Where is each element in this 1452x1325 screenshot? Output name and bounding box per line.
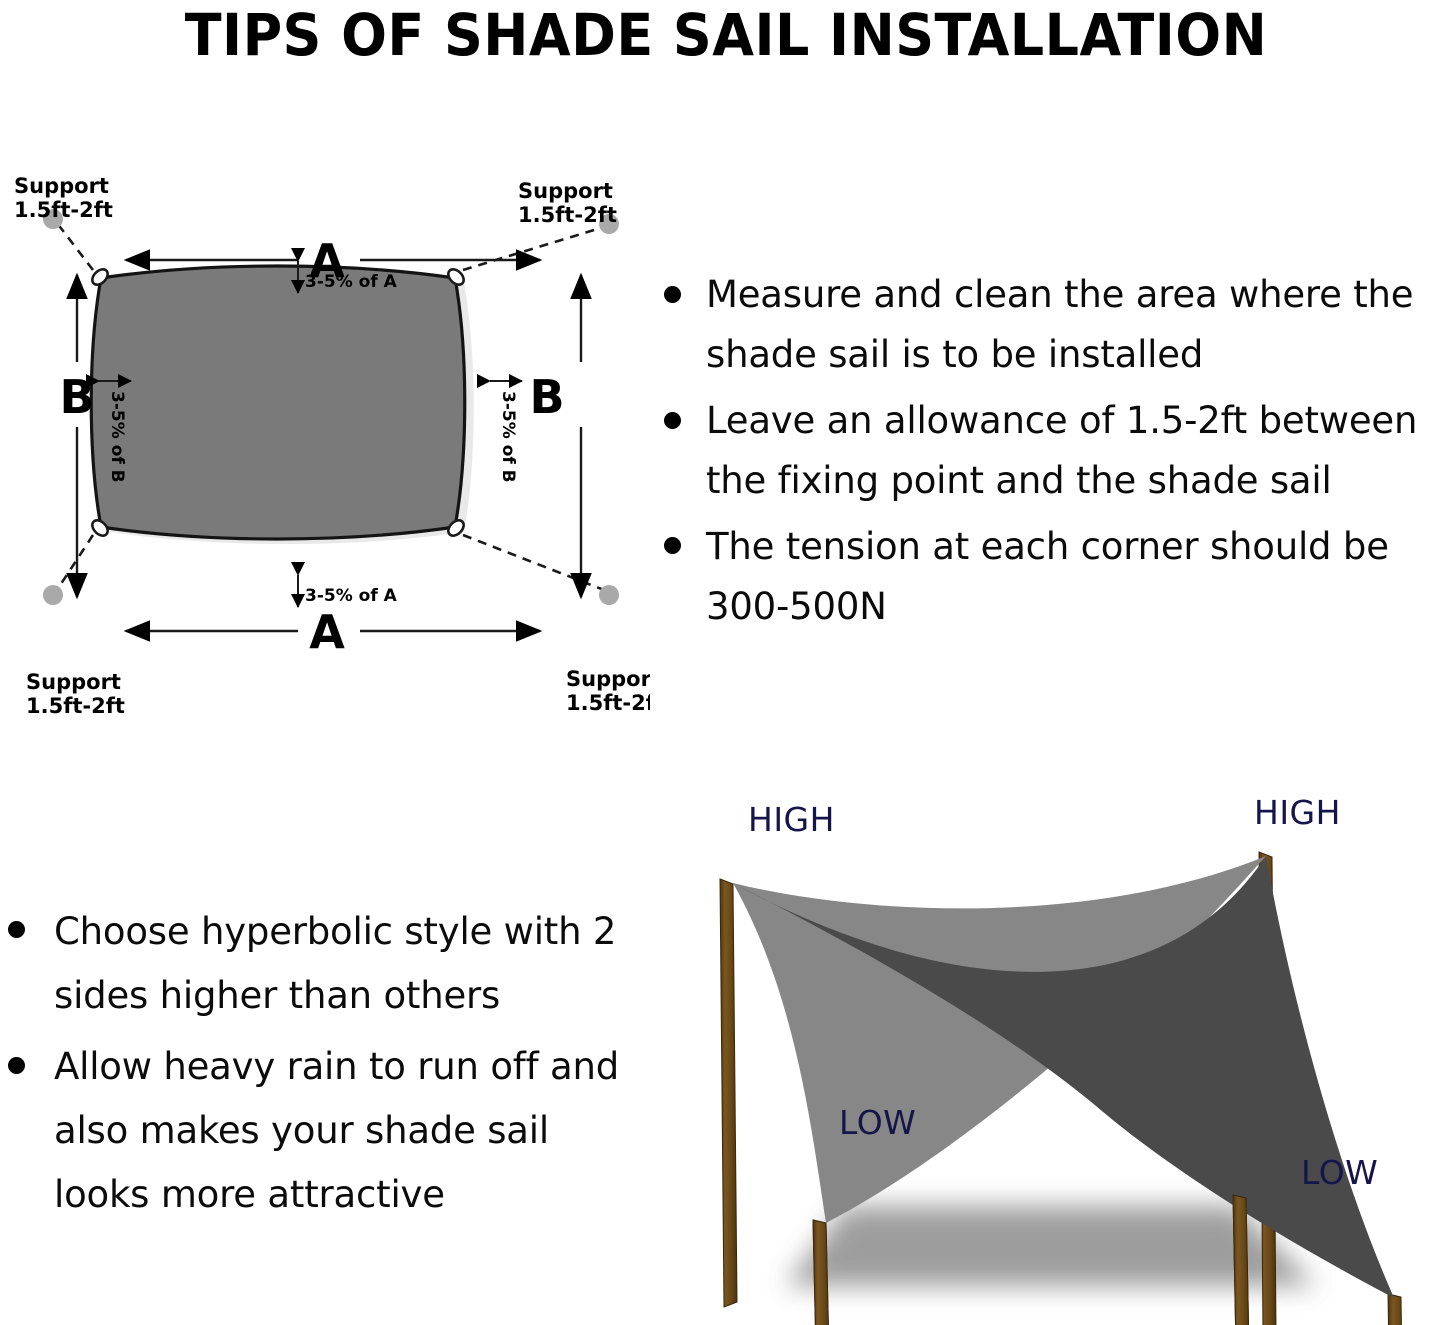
hyperbolic-sail-diagram: HIGH HIGH LOW LOW	[676, 786, 1452, 1325]
installation-tips-list: Measure and clean the area where the sha…	[650, 265, 1452, 643]
post-low-mid-front	[1233, 1195, 1250, 1325]
support-label-top-left-line2: 1.5ft-2ft	[14, 198, 113, 222]
dim-label-bottom-pctA: 3-5% of A	[305, 586, 398, 606]
list-item: Choose hyperbolic style with 2 sides hig…	[0, 900, 640, 1027]
list-item: Measure and clean the area where the sha…	[650, 265, 1452, 385]
support-label-top-right-line2: 1.5ft-2ft	[518, 203, 617, 227]
tether-bottom-right	[463, 535, 604, 590]
anchor-dot-bottom-left	[43, 585, 63, 605]
dim-label-left-pctB: 3-5% of B	[107, 391, 127, 483]
list-item-label: Allow heavy rain to run off and also mak…	[54, 1045, 619, 1215]
support-label-bottom-right-line2: 1.5ft-2ft	[566, 691, 650, 715]
rectangular-sail-diagram: Support 1.5ft-2ft Support 1.5ft-2ft Supp…	[0, 165, 650, 730]
list-item: Leave an allowance of 1.5-2ft between th…	[650, 391, 1452, 511]
list-item-label: Choose hyperbolic style with 2 sides hig…	[54, 910, 616, 1017]
anchor-dot-bottom-right	[599, 585, 619, 605]
bullet-dot-icon	[664, 537, 681, 554]
support-label-bottom-right-line1: Support	[566, 667, 650, 691]
bullet-dot-icon	[8, 1057, 25, 1074]
label-high-left: HIGH	[748, 800, 835, 839]
label-low-left: LOW	[839, 1103, 916, 1142]
dim-label-top-pctA: 3-5% of A	[305, 272, 398, 292]
dim-label-right-pctB: 3-5% of B	[498, 391, 518, 483]
list-item-label: The tension at each corner should be 300…	[706, 525, 1389, 628]
tether-top-right	[463, 227, 604, 270]
bullet-dot-icon	[8, 921, 25, 938]
list-item: The tension at each corner should be 300…	[650, 517, 1452, 637]
post-high-left	[720, 879, 737, 1307]
support-label-bottom-left-line2: 1.5ft-2ft	[26, 694, 125, 718]
label-low-right: LOW	[1301, 1153, 1378, 1192]
list-item-label: Measure and clean the area where the sha…	[706, 273, 1413, 376]
dim-label-right-B: B	[529, 370, 564, 424]
tether-top-left	[57, 223, 93, 270]
support-label-top-right-line1: Support	[518, 179, 613, 203]
post-low-right	[1388, 1294, 1405, 1325]
bullet-dot-icon	[664, 412, 681, 429]
list-item-label: Leave an allowance of 1.5-2ft between th…	[706, 399, 1417, 502]
page-title: TIPS OF SHADE SAIL INSTALLATION	[51, 0, 1401, 70]
support-label-bottom-left-line1: Support	[26, 670, 121, 694]
dim-label-left-B: B	[59, 370, 94, 424]
support-label-top-left-line1: Support	[14, 174, 109, 198]
dim-label-bottom-A: A	[309, 605, 345, 659]
label-high-right: HIGH	[1254, 793, 1341, 832]
hyperbolic-style-tips-list: Choose hyperbolic style with 2 sides hig…	[0, 900, 640, 1234]
tether-bottom-left	[57, 535, 93, 590]
bullet-dot-icon	[664, 286, 681, 303]
sail-surface	[91, 266, 465, 539]
list-item: Allow heavy rain to run off and also mak…	[0, 1035, 640, 1226]
